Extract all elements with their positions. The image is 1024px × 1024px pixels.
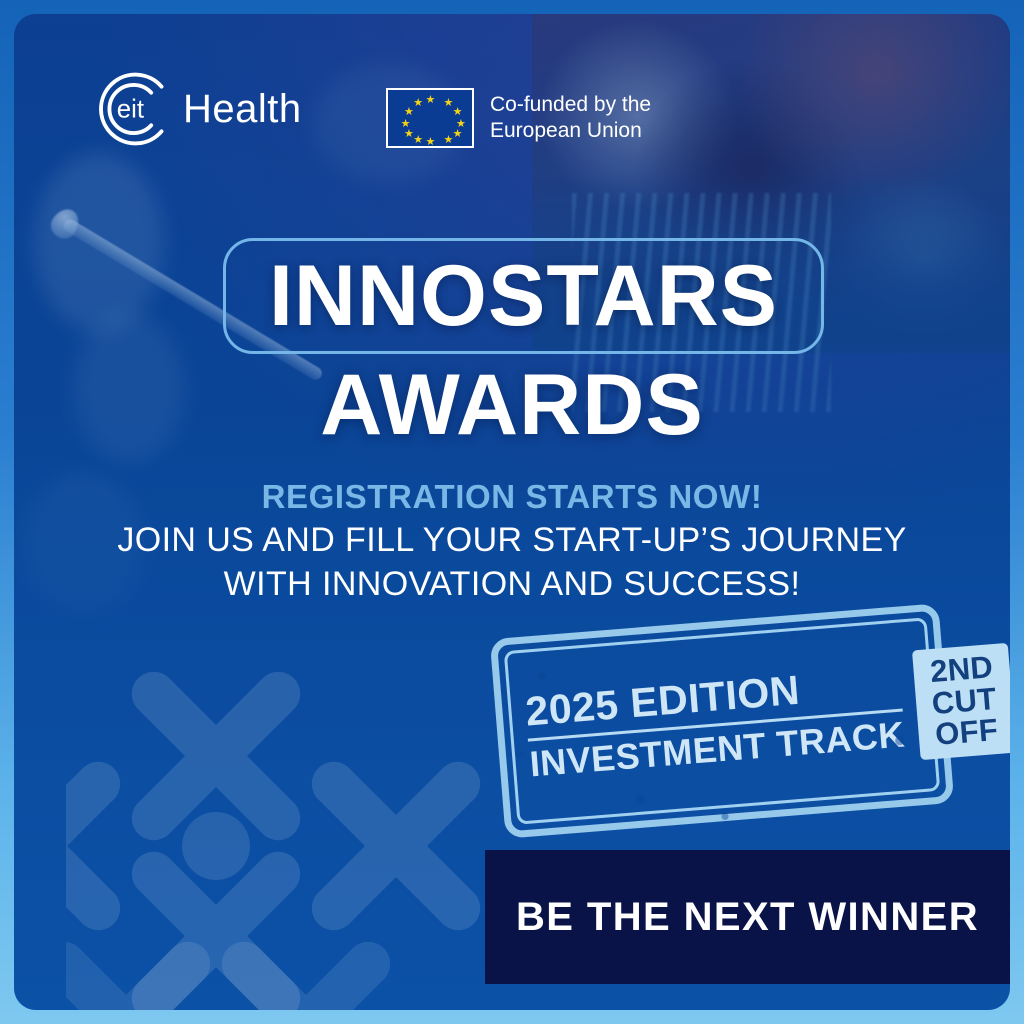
poster-card: eit Health ★ ★ ★ ★ ★ ★ ★ ★ ★ ★ ★ ★ <box>14 14 1010 1010</box>
tagline-line-2: WITH INNOVATION AND SUCCESS! <box>14 563 1010 607</box>
eit-mark-text: eit <box>117 96 144 124</box>
page-title: INNOSTARS <box>269 253 778 339</box>
cta-banner[interactable]: BE THE NEXT WINNER <box>485 850 1010 984</box>
european-union-flag: ★ ★ ★ ★ ★ ★ ★ ★ ★ ★ ★ ★ <box>386 88 474 148</box>
awards-subtitle: AWARDS <box>14 362 1010 448</box>
cut-off-line-3: OFF <box>922 713 1010 752</box>
stamp-text-block: 2025 EDITION INVESTMENT TRACK <box>524 660 906 783</box>
tagline: JOIN US AND FILL YOUR START-UP’S JOURNEY… <box>14 519 1010 606</box>
eu-funding-line-1: Co-funded by the <box>490 92 651 118</box>
cut-off-badge: 2ND CUT OFF <box>912 643 1010 760</box>
edition-stamp: 2025 EDITION INVESTMENT TRACK 2ND CUT OF… <box>490 603 955 838</box>
innostars-title-box: INNOSTARS <box>223 238 824 354</box>
eit-circle-icon: eit <box>91 66 177 152</box>
cta-label: BE THE NEXT WINNER <box>516 897 979 937</box>
eit-health-logo: eit Health <box>91 66 302 152</box>
tagline-line-1: JOIN US AND FILL YOUR START-UP’S JOURNEY <box>14 519 1010 563</box>
eu-funding-text: Co-funded by the European Union <box>490 92 651 143</box>
eu-funding-logo: ★ ★ ★ ★ ★ ★ ★ ★ ★ ★ ★ ★ Co-funded by the… <box>386 88 651 148</box>
eu-funding-line-2: European Union <box>490 118 651 144</box>
poster-canvas: eit Health ★ ★ ★ ★ ★ ★ ★ ★ ★ ★ ★ ★ <box>0 0 1024 1024</box>
registration-kicker: REGISTRATION STARTS NOW! <box>14 480 1010 513</box>
poster-header: eit Health ★ ★ ★ ★ ★ ★ ★ ★ ★ ★ ★ ★ <box>14 14 1010 174</box>
eit-health-wordmark: Health <box>183 89 302 129</box>
